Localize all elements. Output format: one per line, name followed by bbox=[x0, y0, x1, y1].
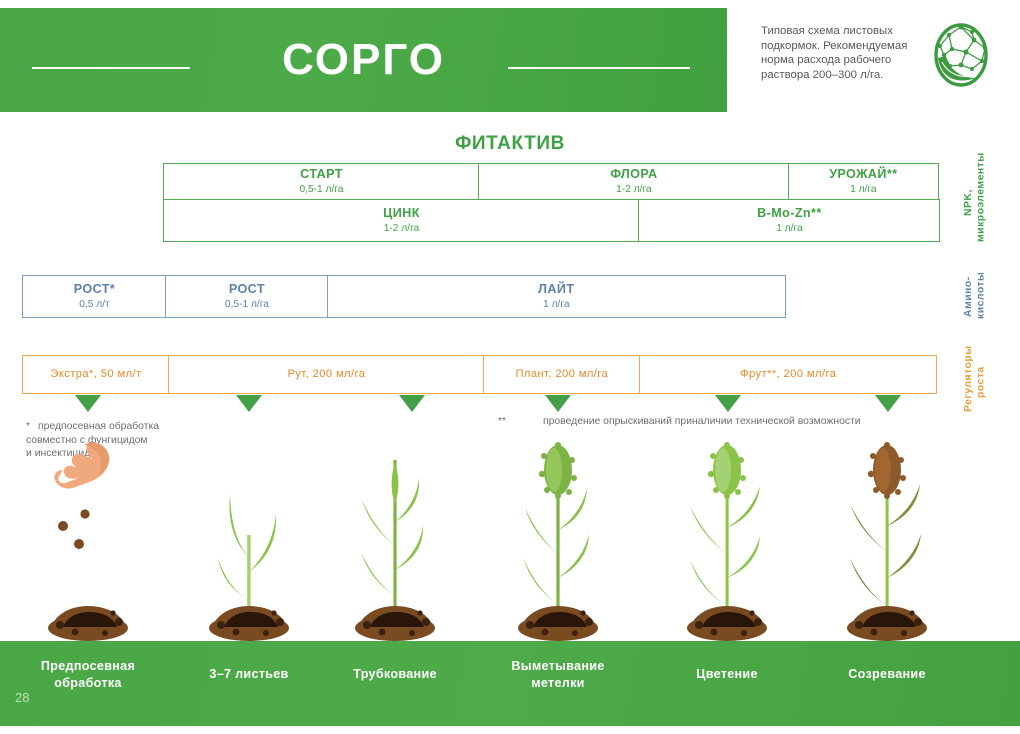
amino-cell-3[interactable]: ЛАЙТ1 л/га bbox=[327, 275, 786, 318]
side-label-regulators: Регуляторыроста bbox=[963, 352, 988, 412]
product-name: ФЛОРА bbox=[610, 167, 657, 182]
side-label-npk: NPK,микроэлементы bbox=[963, 163, 988, 242]
npk-row-2: ЦИНК1-2 л/гаB-Mo-Zn**1 л/га bbox=[163, 199, 942, 242]
product-name: ЛАЙТ bbox=[538, 282, 574, 297]
product-name: УРОЖАЙ** bbox=[829, 167, 897, 182]
npk-cell-r1-3[interactable]: УРОЖАЙ**1 л/га bbox=[788, 163, 939, 200]
footnote-two-marker: ** bbox=[498, 416, 506, 427]
product-name: РОСТ bbox=[229, 282, 265, 297]
page-number: 28 bbox=[15, 690, 29, 705]
down-triangle-icon-3 bbox=[399, 395, 425, 412]
stage-label-5: Цветение bbox=[652, 666, 802, 683]
growth-stage-illustrations bbox=[0, 430, 1020, 645]
regulator-cell-4[interactable]: Фрут**, 200 мл/га bbox=[639, 355, 937, 394]
panicle-emergence-icon bbox=[483, 430, 633, 645]
stage-label-4: Выметываниеметелки bbox=[483, 658, 633, 691]
seedling-two-leaf-icon bbox=[174, 430, 324, 645]
product-dose: 1-2 л/га bbox=[616, 183, 652, 196]
product-name: ЦИНК bbox=[383, 206, 420, 221]
stage-label-2: 3–7 листьев bbox=[174, 666, 324, 683]
product-dose: 0,5-1 л/га bbox=[225, 298, 269, 311]
footnote-two-text: проведение опрыскиваний приналичии техни… bbox=[543, 416, 861, 427]
product-dose: 0,5-1 л/га bbox=[300, 183, 344, 196]
product-dose: 1-2 л/га bbox=[384, 222, 420, 235]
down-triangle-icon-1 bbox=[75, 395, 101, 412]
npk-cell-r2-1[interactable]: ЦИНК1-2 л/га bbox=[163, 199, 640, 242]
regulator-cell-2[interactable]: Рут, 200 мл/га bbox=[168, 355, 484, 394]
down-triangle-icon-2 bbox=[236, 395, 262, 412]
amino-cell-2[interactable]: РОСТ0,5-1 л/га bbox=[165, 275, 328, 318]
product-dose: 1 л/га bbox=[850, 183, 876, 196]
product-name: СТАРТ bbox=[300, 167, 343, 182]
header-rule-right bbox=[508, 67, 690, 69]
page-title: СОРГО bbox=[0, 8, 727, 112]
product-dose: 1 л/га bbox=[543, 298, 569, 311]
product-name: B-Mo-Zn** bbox=[757, 206, 821, 221]
stage-label-3: Трубкование bbox=[320, 666, 470, 683]
stage-label-1: Предпосевнаяобработка bbox=[13, 658, 163, 691]
stage-label-6: Созревание bbox=[812, 666, 962, 683]
leaf-network-globe-icon bbox=[928, 22, 994, 88]
ripe-brown-panicle-icon bbox=[812, 430, 962, 645]
product-name: РОСТ* bbox=[74, 282, 115, 297]
amino-cell-1[interactable]: РОСТ*0,5 л/т bbox=[22, 275, 167, 318]
npk-cell-r1-1[interactable]: СТАРТ0,5-1 л/га bbox=[163, 163, 480, 200]
header-note: Типовая схема листовых подкормок. Рекоме… bbox=[761, 24, 911, 82]
flowering-panicle-icon bbox=[652, 430, 802, 645]
npk-row-1: СТАРТ0,5-1 л/гаФЛОРА1-2 л/гаУРОЖАЙ**1 л/… bbox=[163, 163, 942, 200]
product-name: Фрут**, 200 мл/га bbox=[740, 367, 836, 382]
amino-row: РОСТ*0,5 л/тРОСТ0,5-1 л/гаЛАЙТ1 л/га bbox=[22, 275, 789, 318]
regulator-cell-3[interactable]: Плант, 200 мл/га bbox=[483, 355, 641, 394]
product-dose: 1 л/га bbox=[776, 222, 802, 235]
npk-cell-r2-2[interactable]: B-Mo-Zn**1 л/га bbox=[638, 199, 940, 242]
down-triangle-icon-5 bbox=[715, 395, 741, 412]
product-name: Плант, 200 мл/га bbox=[515, 367, 608, 382]
down-triangle-icon-4 bbox=[545, 395, 571, 412]
product-name: Экстра*, 50 мл/т bbox=[50, 367, 141, 382]
regulators-row: Экстра*, 50 мл/тРут, 200 мл/гаПлант, 200… bbox=[22, 355, 942, 394]
npk-cell-r1-2[interactable]: ФЛОРА1-2 л/га bbox=[478, 163, 789, 200]
header-band: СОРГО bbox=[0, 8, 727, 112]
product-name: Рут, 200 мл/га bbox=[287, 367, 365, 382]
section-title: ФИТАКТИВ bbox=[0, 133, 1020, 155]
stem-elongation-icon bbox=[320, 430, 470, 645]
header-rule-left bbox=[32, 67, 190, 69]
side-label-amino-acids: Амино-кислоты bbox=[963, 274, 988, 319]
regulator-cell-1[interactable]: Экстра*, 50 мл/т bbox=[22, 355, 170, 394]
product-dose: 0,5 л/т bbox=[79, 298, 109, 311]
hand-sowing-seeds-icon bbox=[13, 430, 163, 645]
down-triangle-icon-6 bbox=[875, 395, 901, 412]
